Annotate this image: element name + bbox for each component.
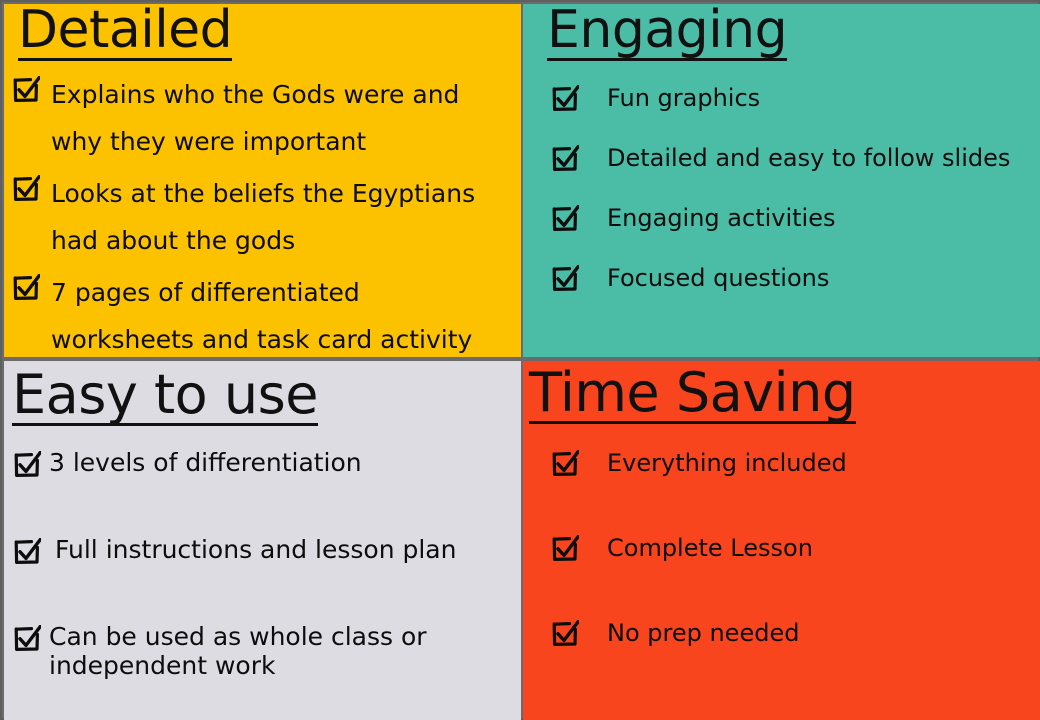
- list-item: Fun graphics: [523, 83, 1040, 113]
- checked-checkbox-icon: [551, 450, 579, 478]
- list-item: 3 levels of differentiation: [4, 448, 521, 479]
- panel-easy-to-use-list: 3 levels of differentiation Full instruc…: [4, 448, 521, 680]
- checked-checkbox-icon: [12, 76, 40, 104]
- feature-grid: Detailed Explains who the Gods were and …: [0, 0, 1040, 720]
- panel-engaging-title-wrap: Engaging: [523, 4, 1040, 61]
- checked-checkbox-icon: [13, 538, 41, 566]
- list-item: Focused questions: [523, 263, 1040, 293]
- panel-engaging-title: Engaging: [547, 4, 787, 61]
- list-item-label: Full instructions and lesson plan: [55, 535, 515, 564]
- panel-detailed: Detailed Explains who the Gods were and …: [4, 4, 521, 357]
- list-item: Detailed and easy to follow slides: [523, 143, 1040, 173]
- list-item-label: Focused questions: [607, 263, 829, 293]
- list-item-label: 7 pages of differentiated worksheets and…: [51, 269, 501, 357]
- checked-checkbox-icon: [551, 620, 579, 648]
- panel-easy-to-use-title-wrap: Easy to use: [4, 361, 521, 426]
- panel-easy-to-use: Easy to use 3 levels of differentiation: [4, 361, 521, 720]
- list-item: Can be used as whole class or independen…: [4, 622, 521, 680]
- panel-time-saving-list: Everything included Complete Lesson: [523, 448, 1040, 648]
- panel-detailed-title: Detailed: [18, 4, 232, 61]
- panel-engaging: Engaging Fun graphics: [523, 4, 1040, 357]
- list-item-label: Explains who the Gods were and why they …: [51, 71, 501, 165]
- list-item: Full instructions and lesson plan: [4, 535, 521, 566]
- panel-detailed-list: Explains who the Gods were and why they …: [4, 71, 521, 357]
- checked-checkbox-icon: [13, 625, 41, 653]
- panel-time-saving-title: Time Saving: [529, 365, 856, 424]
- list-item-label: Looks at the beliefs the Egyptians had a…: [51, 170, 501, 264]
- list-item: Explains who the Gods were and why they …: [4, 71, 521, 165]
- list-item: No prep needed: [523, 618, 1040, 648]
- list-item-label: Fun graphics: [607, 83, 760, 113]
- checked-checkbox-icon: [551, 265, 579, 293]
- list-item: 7 pages of differentiated worksheets and…: [4, 269, 521, 357]
- panel-easy-to-use-title: Easy to use: [12, 367, 318, 426]
- panel-engaging-list: Fun graphics Detailed and easy to follow…: [523, 83, 1040, 293]
- list-item-label: Everything included: [607, 448, 847, 478]
- list-item-label: Can be used as whole class or independen…: [49, 622, 509, 680]
- checked-checkbox-icon: [551, 535, 579, 563]
- list-item: Everything included: [523, 448, 1040, 478]
- list-item: Looks at the beliefs the Egyptians had a…: [4, 170, 521, 264]
- list-item-label: Detailed and easy to follow slides: [607, 143, 1010, 173]
- checked-checkbox-icon: [551, 85, 579, 113]
- list-item-label: No prep needed: [607, 618, 799, 648]
- list-item-label: Complete Lesson: [607, 533, 813, 563]
- checked-checkbox-icon: [13, 451, 41, 479]
- list-item: Complete Lesson: [523, 533, 1040, 563]
- panel-detailed-title-wrap: Detailed: [4, 4, 521, 61]
- list-item: Engaging activities: [523, 203, 1040, 233]
- checked-checkbox-icon: [12, 175, 40, 203]
- panel-time-saving-title-wrap: Time Saving: [523, 361, 1040, 424]
- checked-checkbox-icon: [12, 274, 40, 302]
- checked-checkbox-icon: [551, 205, 579, 233]
- panel-time-saving: Time Saving Everything included: [523, 361, 1040, 720]
- list-item-label: 3 levels of differentiation: [49, 448, 509, 477]
- list-item-label: Engaging activities: [607, 203, 836, 233]
- checked-checkbox-icon: [551, 145, 579, 173]
